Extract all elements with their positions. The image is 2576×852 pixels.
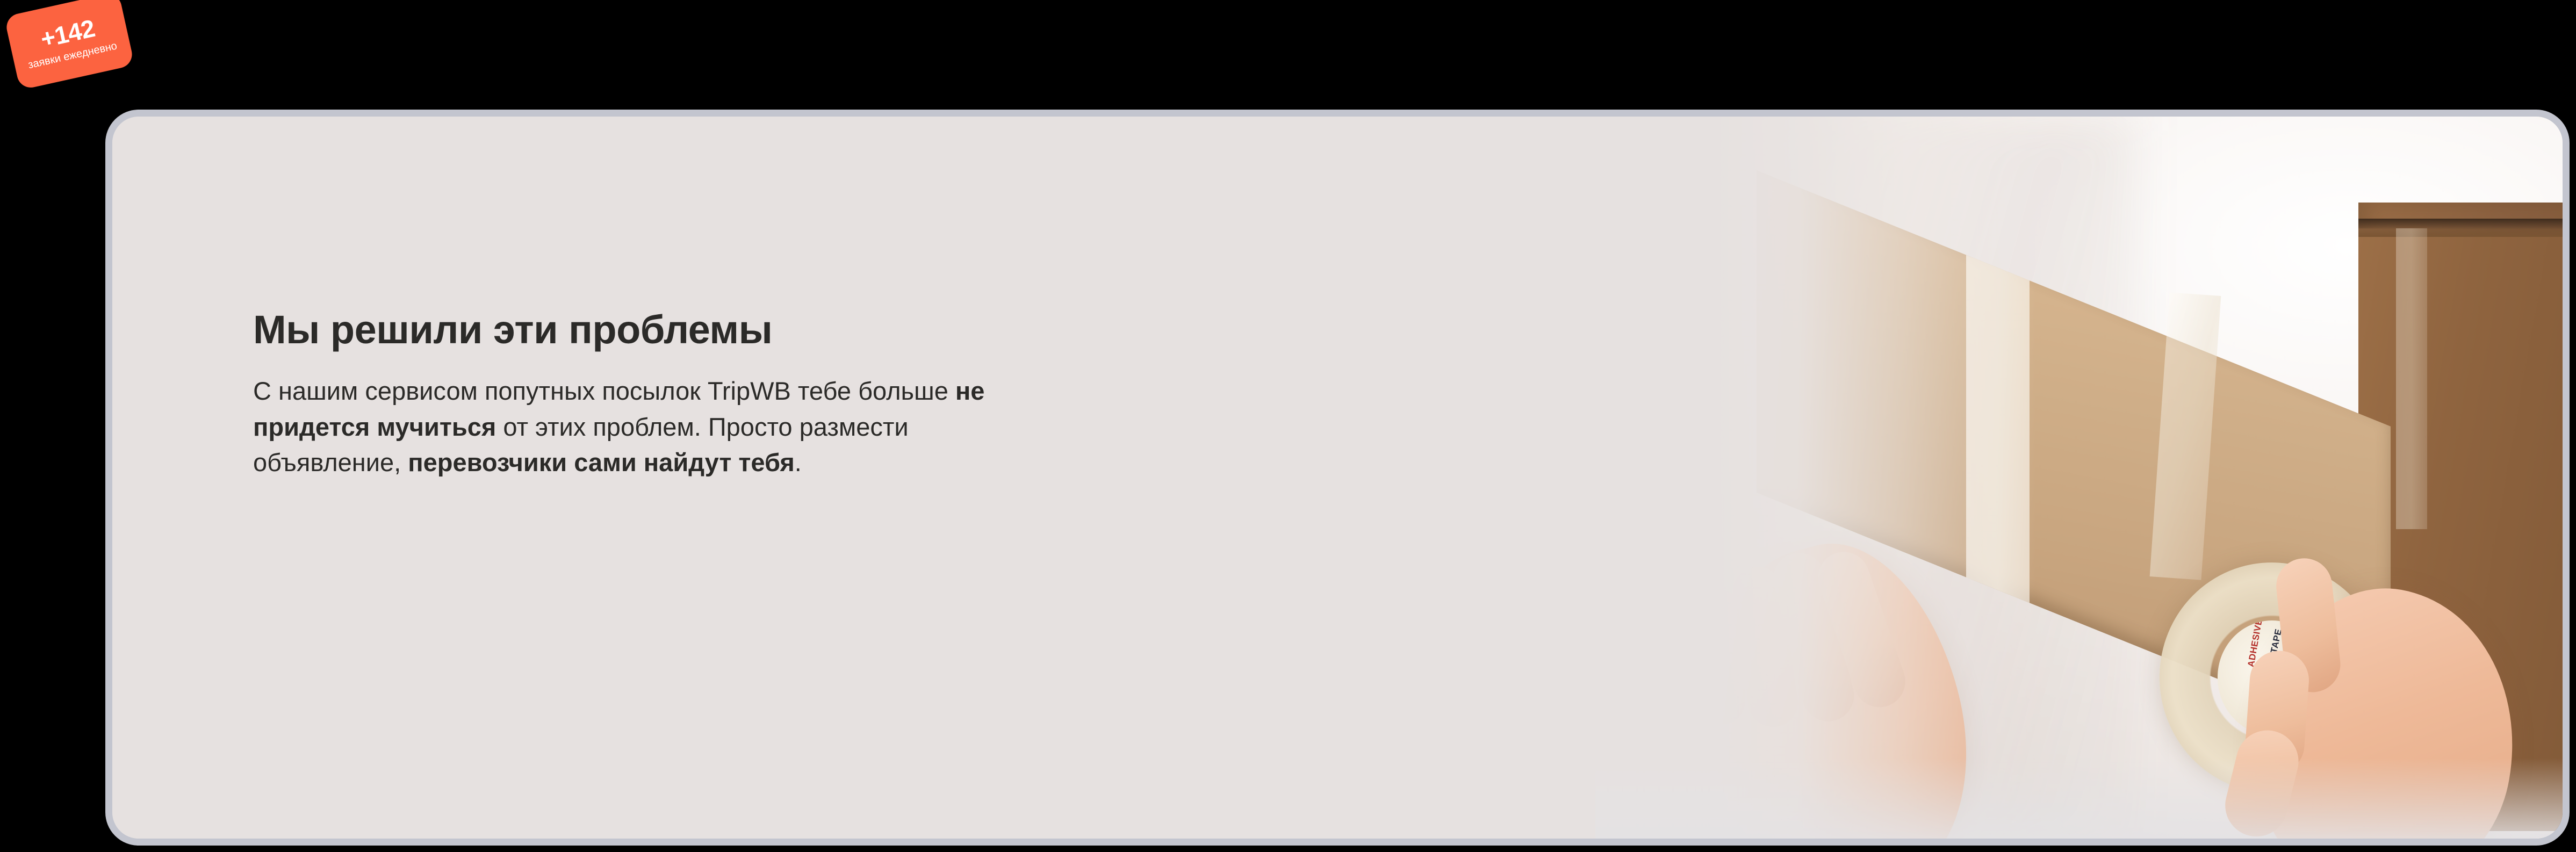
page-root: ADHESIVE TAPE ADHESIVE TAPE Мы решили эт… xyxy=(0,0,2576,852)
card-description: С нашим сервисом попутных посылок TripWB… xyxy=(253,350,995,481)
card-copy: Мы решили эти проблемы С нашим сервисом … xyxy=(253,310,1596,481)
page-title: Мы решили эти проблемы xyxy=(253,310,1596,350)
box-front-tape-strip xyxy=(2396,228,2427,529)
photo-bottom-fade xyxy=(1595,758,2563,839)
photo-left-fade xyxy=(1595,117,2036,839)
box-flap-edge xyxy=(2358,219,2563,237)
promo-card: ADHESIVE TAPE ADHESIVE TAPE Мы решили эт… xyxy=(105,110,2570,846)
card-surface: ADHESIVE TAPE ADHESIVE TAPE Мы решили эт… xyxy=(112,117,2563,839)
description-segment: . xyxy=(795,448,802,476)
description-emphasis: перевозчики сами найдут тебя xyxy=(408,448,795,476)
package-photo: ADHESIVE TAPE ADHESIVE TAPE xyxy=(1595,117,2563,839)
daily-requests-badge: +142 заявки ежедневно xyxy=(4,0,134,90)
description-segment: С нашим сервисом попутных посылок TripWB… xyxy=(253,377,955,405)
